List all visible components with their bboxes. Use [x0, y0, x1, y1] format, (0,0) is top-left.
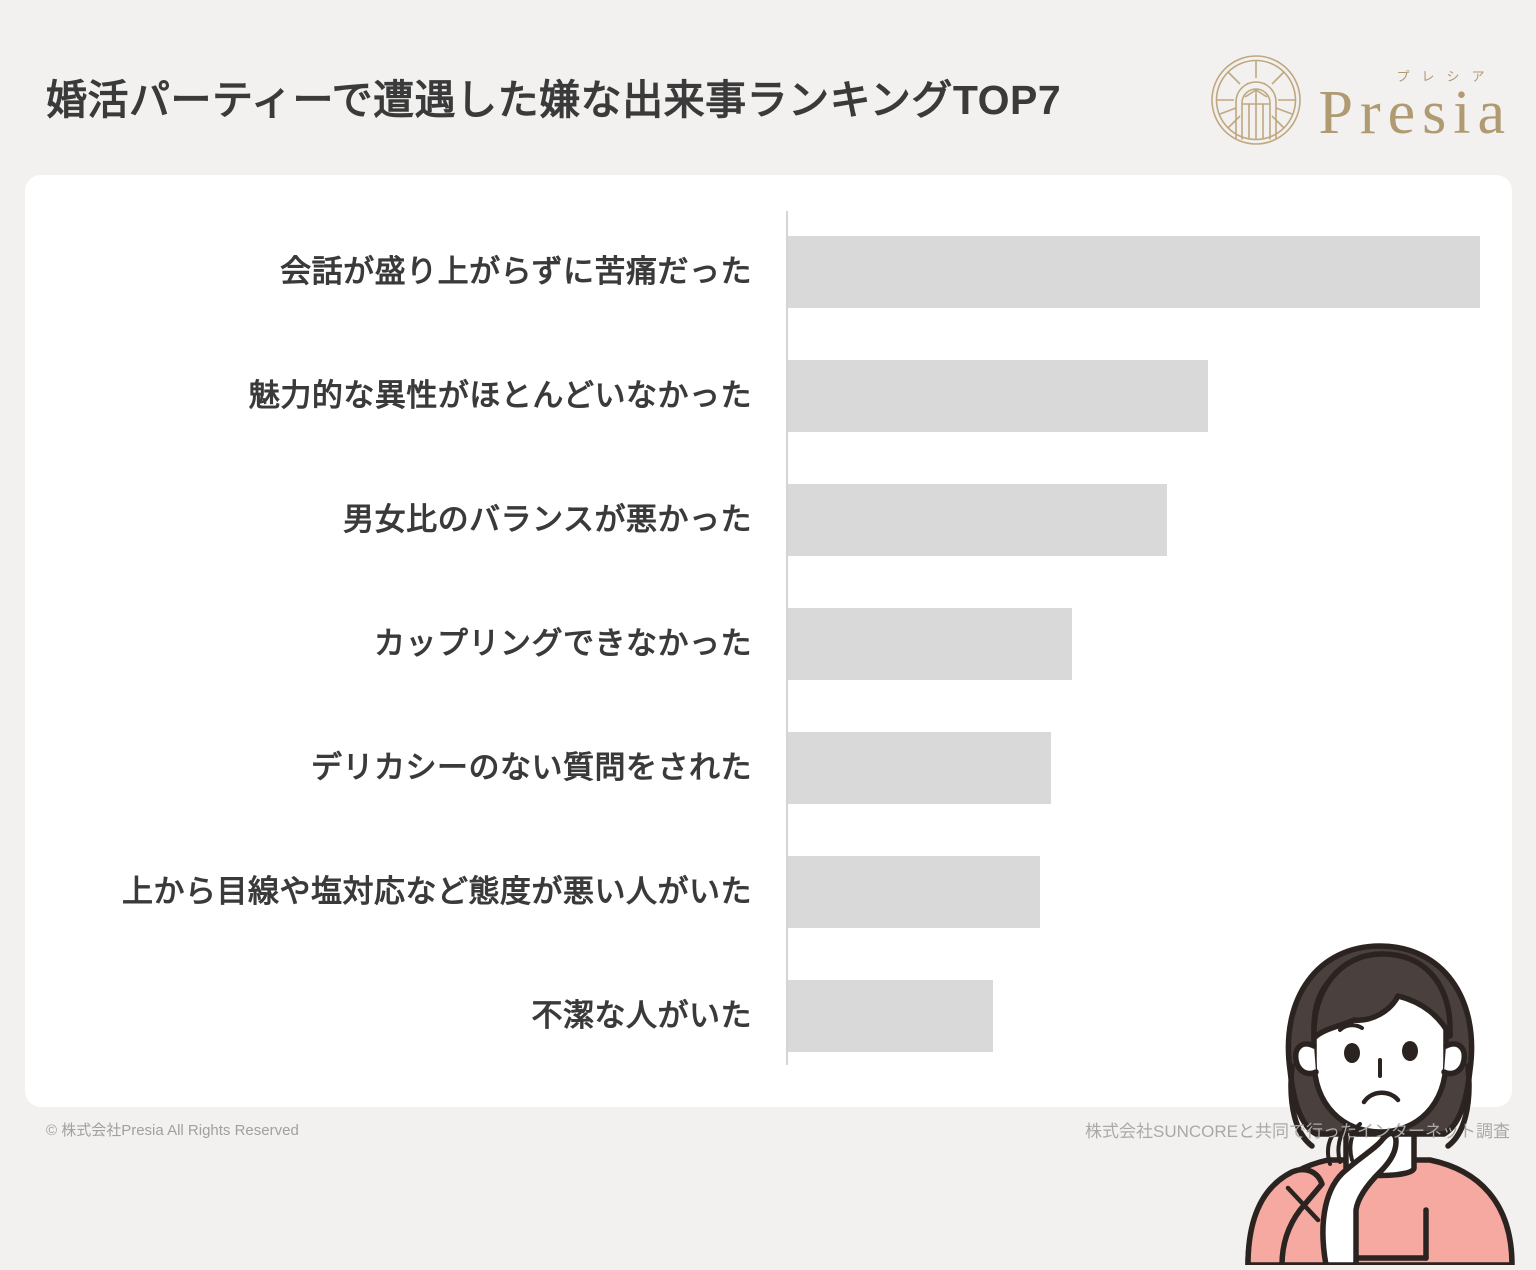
bar-label: 男女比のバランスが悪かった — [52, 484, 752, 556]
survey-source-text: 株式会社SUNCOREと共同で行ったインターネット調査 — [1085, 1117, 1510, 1142]
chart-row: 男女比のバランスが悪かった — [25, 484, 1512, 556]
brand-logo: プレシア Presia — [1208, 48, 1512, 152]
logo-kana: プレシア — [1396, 66, 1496, 85]
bar-label: デリカシーのない質問をされた — [52, 732, 752, 804]
page-title: 婚活パーティーで遭遇した嫌な出来事ランキングTOP7 — [46, 66, 1061, 126]
logo-wordmark: プレシア Presia — [1318, 52, 1512, 148]
bar-label: 会話が盛り上がらずに苦痛だった — [52, 236, 752, 308]
bar — [788, 980, 993, 1052]
bar — [788, 608, 1072, 680]
chart-card: 会話が盛り上がらずに苦痛だった魅力的な異性がほとんどいなかった男女比のバランスが… — [25, 175, 1512, 1107]
bar — [788, 484, 1167, 556]
arch-circle-emblem-icon — [1208, 52, 1304, 148]
bar-label: カップリングできなかった — [52, 608, 752, 680]
bar-label: 不潔な人がいた — [52, 980, 752, 1052]
bar-label: 魅力的な異性がほとんどいなかった — [52, 360, 752, 432]
chart-row: 魅力的な異性がほとんどいなかった — [25, 360, 1512, 432]
bar — [788, 236, 1480, 308]
page-header: 婚活パーティーで遭遇した嫌な出来事ランキングTOP7 — [0, 0, 1536, 175]
chart-row: 会話が盛り上がらずに苦痛だった — [25, 236, 1512, 308]
chart-row: 上から目線や塩対応など態度が悪い人がいた — [25, 856, 1512, 928]
bar — [788, 360, 1208, 432]
chart-row: 不潔な人がいた — [25, 980, 1512, 1052]
chart-row: カップリングできなかった — [25, 608, 1512, 680]
bar — [788, 856, 1040, 928]
bar — [788, 732, 1051, 804]
ranking-bar-chart: 会話が盛り上がらずに苦痛だった魅力的な異性がほとんどいなかった男女比のバランスが… — [25, 175, 1512, 1107]
bar-label: 上から目線や塩対応など態度が悪い人がいた — [52, 856, 752, 928]
chart-row: デリカシーのない質問をされた — [25, 732, 1512, 804]
copyright-text: © 株式会社Presia All Rights Reserved — [46, 1119, 299, 1140]
page-footer: © 株式会社Presia All Rights Reserved 株式会社SUN… — [0, 1107, 1536, 1152]
